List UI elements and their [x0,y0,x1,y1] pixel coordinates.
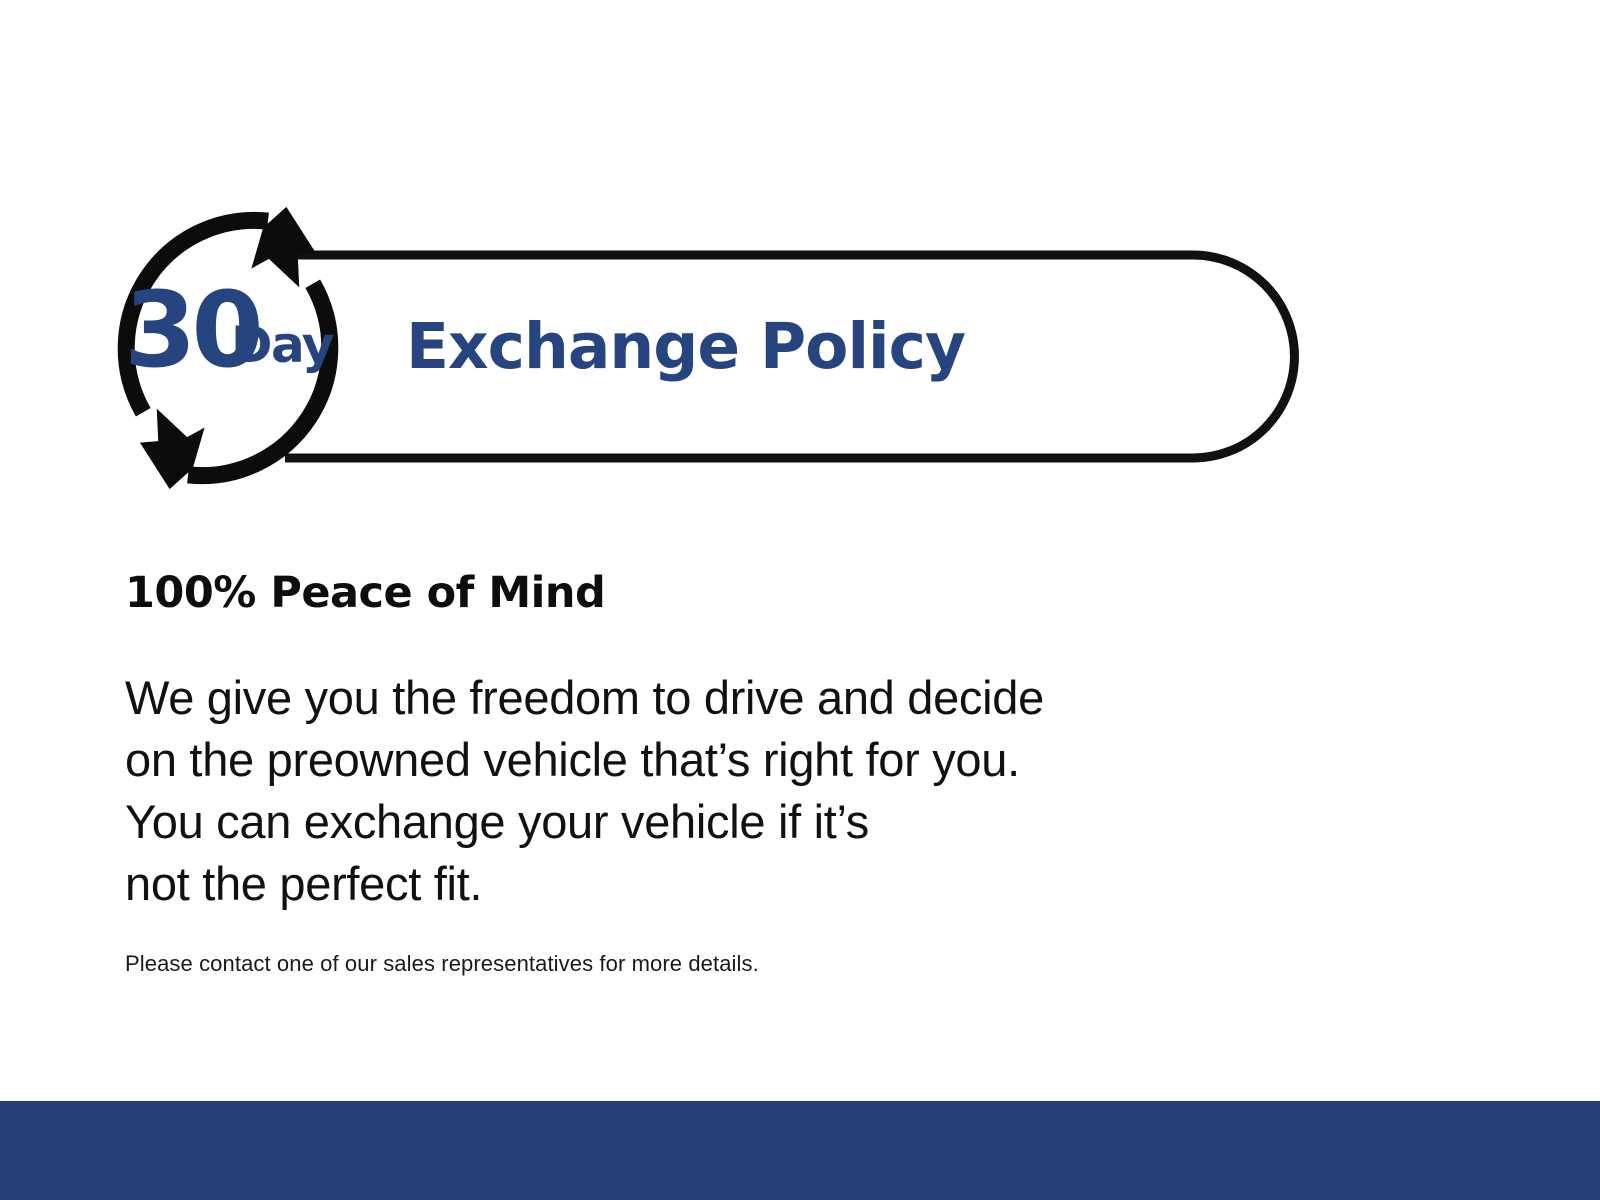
paragraph-line: not the perfect fit. [125,853,1425,915]
subheading: 100% Peace of Mind [125,565,1425,621]
paragraph-line: You can exchange your vehicle if it’s [125,791,1425,853]
footnote-text: Please contact one of our sales represen… [125,949,1425,979]
description-paragraph: We give you the freedom to drive and dec… [125,667,1425,915]
circular-refresh-arrows-icon [114,203,343,493]
slide-canvas: 30 Day Exchange Policy 100% Peace of Min… [0,0,1600,1200]
body-content: 100% Peace of Mind We give you the freed… [125,565,1425,979]
page-title: Exchange Policy [406,305,965,389]
paragraph-line: on the preowned vehicle that’s right for… [125,729,1425,791]
footer-bar [0,1101,1600,1200]
paragraph-line: We give you the freedom to drive and dec… [125,667,1425,729]
